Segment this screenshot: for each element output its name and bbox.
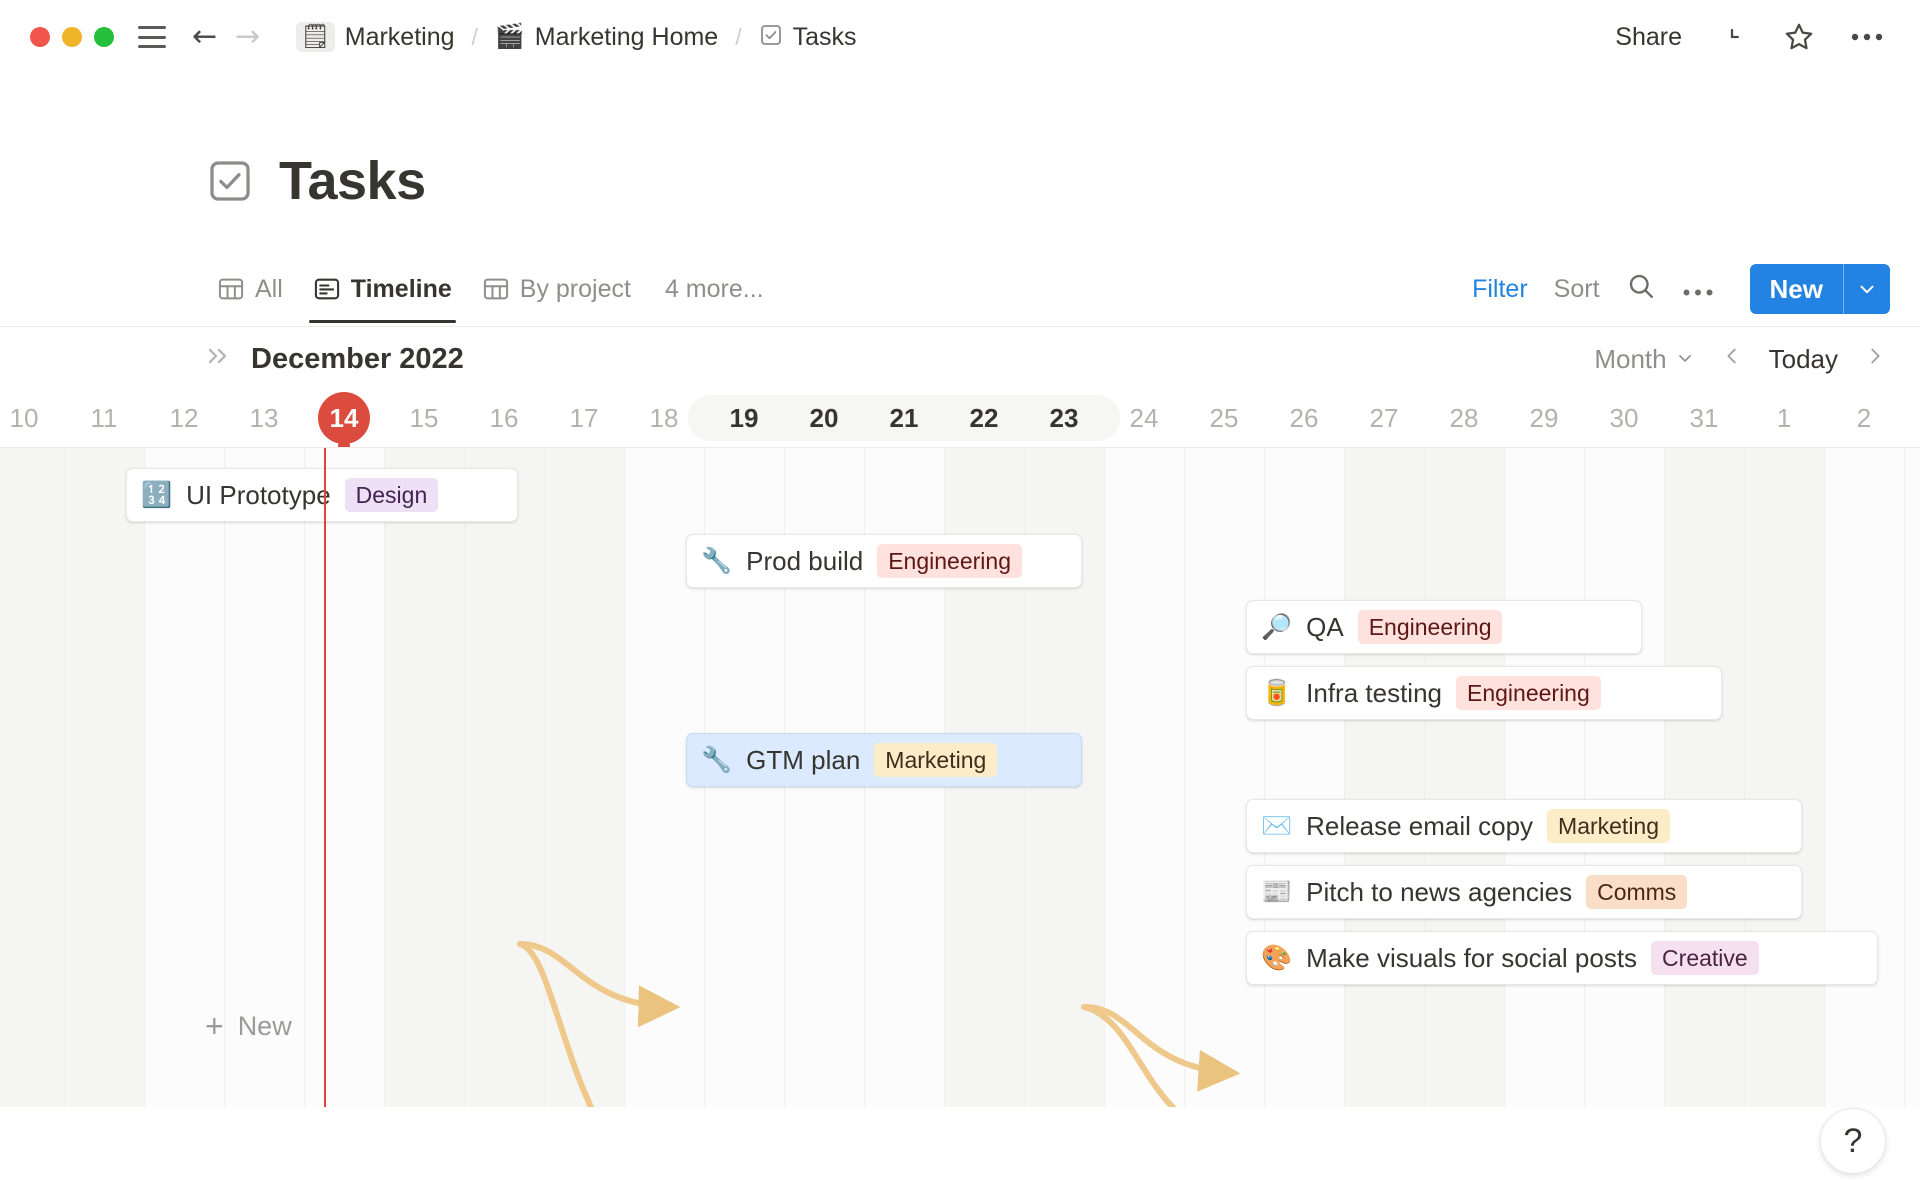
table-icon: [217, 275, 245, 303]
view-toolbar: Filter Sort New: [1472, 255, 1890, 323]
notion-timeline-window: ← → 🗒 Marketing / 🎬 Marketing Home / Tas…: [0, 0, 1920, 1200]
timeline-gridline: [1104, 448, 1105, 1107]
ruler-day-10[interactable]: 10: [0, 390, 64, 446]
table-icon: [482, 275, 510, 303]
task-title: QA: [1306, 612, 1344, 643]
back-arrow-icon[interactable]: ←: [192, 22, 217, 52]
timeline-gridline: [1344, 448, 1345, 1107]
minimize-window-button[interactable]: [62, 27, 82, 47]
tab-more-label: 4 more...: [665, 275, 764, 304]
ruler-day-3[interactable]: 3: [1904, 390, 1920, 446]
task-title: Pitch to news agencies: [1306, 877, 1572, 908]
timeline-today-button[interactable]: Today: [1769, 344, 1838, 375]
chevron-double-right-icon[interactable]: [205, 344, 233, 375]
timeline-gridline: [224, 448, 225, 1107]
ruler-day-31[interactable]: 31: [1664, 390, 1744, 446]
timeline-gridline: [144, 448, 145, 1107]
ruler-day-17[interactable]: 17: [544, 390, 624, 446]
ruler-day-29[interactable]: 29: [1504, 390, 1584, 446]
task-tag-badge: Engineering: [1456, 676, 1601, 711]
clock-icon[interactable]: [1716, 21, 1748, 53]
timeline-task-card[interactable]: 🔧Prod buildEngineering: [686, 534, 1082, 588]
timeline-gridline: [1904, 448, 1905, 1107]
timeline-task-card[interactable]: 🔧GTM planMarketing: [686, 733, 1082, 787]
window-titlebar: ← → 🗒 Marketing / 🎬 Marketing Home / Tas…: [0, 0, 1920, 74]
ruler-day-25[interactable]: 25: [1184, 390, 1264, 446]
task-emoji-icon: 🎨: [1261, 946, 1292, 971]
ruler-day-1[interactable]: 1: [1744, 390, 1824, 446]
timeline-gridline: [544, 448, 545, 1107]
ruler-day-20[interactable]: 20: [784, 390, 864, 446]
tab-label: All: [255, 275, 283, 304]
timeline-zoom-select[interactable]: Month: [1594, 344, 1694, 375]
timeline-task-card[interactable]: 📰Pitch to news agenciesComms: [1246, 865, 1802, 919]
timeline-gridline: [1824, 448, 1825, 1107]
task-emoji-icon: ✉️: [1261, 814, 1292, 839]
timeline-month-group: December 2022: [205, 343, 464, 376]
timeline-month-label: December 2022: [251, 343, 464, 376]
timeline-today-marker-line: [324, 448, 326, 1107]
timeline-nav: Month Today: [1594, 343, 1890, 376]
tab-label: By project: [520, 275, 631, 304]
new-task-row-label: New: [238, 1011, 292, 1042]
timeline-task-card[interactable]: 🔢UI PrototypeDesign: [126, 468, 518, 522]
timeline-column-band: [0, 448, 144, 1107]
timeline-task-card[interactable]: 🥫Infra testingEngineering: [1246, 666, 1722, 720]
checkbox-icon: [759, 23, 783, 52]
breadcrumb-separator: /: [463, 24, 487, 51]
new-button-group: New: [1750, 264, 1890, 314]
timeline-icon: [313, 275, 341, 303]
maximize-window-button[interactable]: [94, 27, 114, 47]
timeline-task-card[interactable]: ✉️Release email copyMarketing: [1246, 799, 1802, 853]
tab-label: Timeline: [351, 275, 452, 304]
ruler-day-28[interactable]: 28: [1424, 390, 1504, 446]
search-icon[interactable]: [1626, 271, 1656, 308]
page-header: Tasks: [207, 150, 426, 212]
ruler-day-19[interactable]: 19: [704, 390, 784, 446]
timeline-gridline: [1504, 448, 1505, 1107]
timeline-gridline: [1424, 448, 1425, 1107]
timeline-gridline: [1664, 448, 1665, 1107]
view-tabs: All Timeline By project 4 more...: [205, 255, 776, 323]
view-options-ellipsis-icon[interactable]: [1682, 275, 1714, 304]
tab-timeline[interactable]: Timeline: [301, 255, 464, 323]
tab-all[interactable]: All: [205, 255, 295, 323]
task-title: GTM plan: [746, 745, 860, 776]
tab-by-project[interactable]: By project: [470, 255, 643, 323]
task-emoji-icon: 🔧: [701, 748, 732, 773]
task-title: Infra testing: [1306, 678, 1442, 709]
forward-arrow-icon[interactable]: →: [235, 22, 260, 52]
view-tab-bar: All Timeline By project 4 more... Filter…: [0, 255, 1920, 327]
timeline-gridline: [464, 448, 465, 1107]
filter-button[interactable]: Filter: [1472, 275, 1528, 304]
ruler-day-26[interactable]: 26: [1264, 390, 1344, 446]
traffic-lights: [30, 27, 114, 47]
timeline-prev-button[interactable]: [1717, 343, 1747, 376]
new-button[interactable]: New: [1750, 264, 1843, 314]
task-emoji-icon: 🔧: [701, 549, 732, 574]
ruler-day-24[interactable]: 24: [1104, 390, 1184, 446]
ruler-day-27[interactable]: 27: [1344, 390, 1424, 446]
page-title: Tasks: [279, 150, 426, 212]
timeline-day-ruler: 1011121314151617181920212223242526272829…: [0, 390, 1920, 446]
breadcrumb-label: Marketing Home: [535, 23, 718, 52]
new-task-row-button[interactable]: + New: [205, 1010, 292, 1042]
timeline-canvas[interactable]: 🔢UI PrototypeDesign🔧Prod buildEngineerin…: [0, 447, 1920, 1107]
task-tag-badge: Engineering: [877, 544, 1022, 579]
ruler-day-23[interactable]: 23: [1024, 390, 1104, 446]
ruler-day-16[interactable]: 16: [464, 390, 544, 446]
task-emoji-icon: 🥫: [1261, 681, 1292, 706]
ruler-day-13[interactable]: 13: [224, 390, 304, 446]
task-tag-badge: Design: [345, 478, 439, 513]
ruler-day-18[interactable]: 18: [624, 390, 704, 446]
timeline-gridline: [304, 448, 305, 1107]
ruler-day-12[interactable]: 12: [144, 390, 224, 446]
ruler-day-30[interactable]: 30: [1584, 390, 1664, 446]
task-tag-badge: Marketing: [1547, 809, 1670, 844]
titlebar-actions: Share: [1615, 20, 1890, 54]
notebook-icon: 🗒: [296, 22, 334, 52]
plus-icon: +: [205, 1010, 224, 1042]
breadcrumb-separator: /: [726, 24, 750, 51]
timeline-task-card[interactable]: 🎨Make visuals for social postsCreative: [1246, 931, 1878, 985]
ruler-day-21[interactable]: 21: [864, 390, 944, 446]
sort-button[interactable]: Sort: [1554, 275, 1600, 304]
timeline-gridline: [1584, 448, 1585, 1107]
task-tag-badge: Comms: [1586, 875, 1687, 910]
close-window-button[interactable]: [30, 27, 50, 47]
timeline-gridline: [624, 448, 625, 1107]
task-title: Release email copy: [1306, 811, 1533, 842]
timeline-gridline: [1184, 448, 1185, 1107]
share-button[interactable]: Share: [1615, 23, 1682, 52]
task-title: UI Prototype: [186, 480, 331, 511]
timeline-header: December 2022 Month Today: [0, 328, 1920, 390]
ruler-day-22[interactable]: 22: [944, 390, 1024, 446]
task-emoji-icon: 🔎: [1261, 615, 1292, 640]
task-emoji-icon: 🔢: [141, 483, 172, 508]
sidebar-toggle-icon[interactable]: [138, 26, 166, 48]
task-tag-badge: Creative: [1651, 941, 1759, 976]
breadcrumb-item-tasks[interactable]: Tasks: [751, 20, 865, 55]
breadcrumb-item-marketing[interactable]: 🗒 Marketing: [288, 19, 462, 55]
timeline-bottom-spacer: [0, 1108, 1920, 1200]
ellipsis-icon[interactable]: [1850, 32, 1884, 42]
clapperboard-icon: 🎬: [495, 25, 525, 49]
help-button[interactable]: ?: [1820, 1108, 1886, 1174]
new-button-chevron-down-icon[interactable]: [1844, 264, 1890, 314]
checkbox-icon: [207, 158, 253, 204]
ruler-day-15[interactable]: 15: [384, 390, 464, 446]
ruler-day-11[interactable]: 11: [64, 390, 144, 446]
timeline-gridline: [1264, 448, 1265, 1107]
timeline-zoom-label: Month: [1594, 344, 1666, 375]
task-tag-badge: Engineering: [1358, 610, 1503, 645]
ruler-day-2[interactable]: 2: [1824, 390, 1904, 446]
ruler-today-pill[interactable]: 14: [318, 392, 370, 444]
star-icon[interactable]: [1782, 20, 1816, 54]
timeline-next-button[interactable]: [1860, 343, 1890, 376]
breadcrumb-label: Tasks: [793, 23, 857, 52]
task-tag-badge: Marketing: [874, 743, 997, 778]
task-title: Make visuals for social posts: [1306, 943, 1637, 974]
timeline-gridline: [64, 448, 65, 1107]
chevron-down-icon: [1675, 344, 1695, 375]
timeline-task-card[interactable]: 🔎QAEngineering: [1246, 600, 1642, 654]
task-emoji-icon: 📰: [1261, 880, 1292, 905]
task-title: Prod build: [746, 546, 863, 577]
breadcrumb: 🗒 Marketing / 🎬 Marketing Home / Tasks: [288, 19, 864, 55]
breadcrumb-item-marketing-home[interactable]: 🎬 Marketing Home: [487, 20, 726, 55]
timeline-column-band: [384, 448, 624, 1107]
breadcrumb-label: Marketing: [345, 23, 455, 52]
timeline-gridline: [1744, 448, 1745, 1107]
tab-more-views[interactable]: 4 more...: [649, 255, 776, 323]
timeline-gridline: [384, 448, 385, 1107]
